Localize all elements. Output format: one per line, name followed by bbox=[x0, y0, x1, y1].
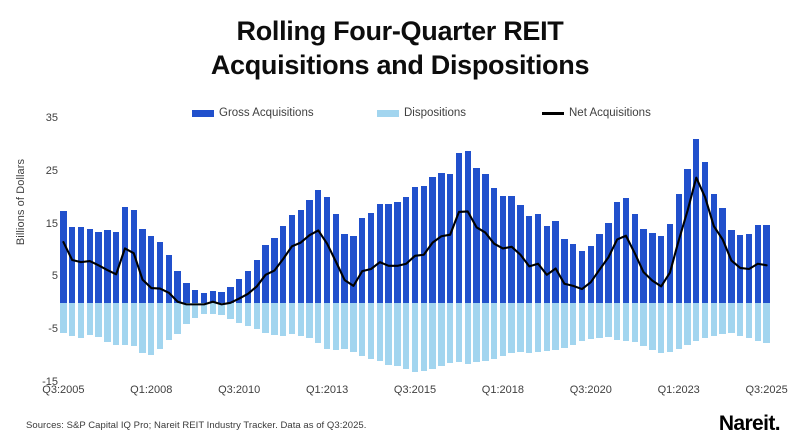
y-tick--5: -5 bbox=[18, 323, 58, 335]
legend-swatch-gross-acquisitions bbox=[192, 110, 214, 117]
chart-slide: Rolling Four-Quarter REIT Acquisitions a… bbox=[0, 0, 800, 445]
y-tick-5: 5 bbox=[18, 270, 58, 282]
x-tick-Q1-2018: Q1:2018 bbox=[482, 384, 524, 397]
x-tick-Q3-2010: Q3:2010 bbox=[218, 384, 260, 397]
legend-swatch-dispositions bbox=[377, 110, 399, 117]
plot-area bbox=[59, 118, 771, 382]
x-tick-Q3-2005: Q3:2005 bbox=[42, 384, 84, 397]
nareit-logo: Nareit. bbox=[719, 412, 780, 436]
net-acquisitions-line bbox=[63, 178, 766, 305]
title-line-2: Acquisitions and Dispositions bbox=[0, 48, 800, 82]
x-tick-Q1-2008: Q1:2008 bbox=[130, 384, 172, 397]
page-title: Rolling Four-Quarter REIT Acquisitions a… bbox=[0, 14, 800, 82]
x-tick-Q1-2023: Q1:2023 bbox=[658, 384, 700, 397]
legend-swatch-net-acquisitions bbox=[542, 112, 564, 115]
x-axis-ticks: Q3:2005Q1:2008Q3:2010Q1:2013Q3:2015Q1:20… bbox=[0, 384, 800, 400]
source-note: Sources: S&P Capital IQ Pro; Nareit REIT… bbox=[26, 420, 366, 431]
x-tick-Q3-2025: Q3:2025 bbox=[745, 384, 787, 397]
title-line-1: Rolling Four-Quarter REIT bbox=[0, 14, 800, 48]
x-tick-Q3-2015: Q3:2015 bbox=[394, 384, 436, 397]
y-tick-35: 35 bbox=[18, 112, 58, 124]
y-axis-title: Billions of Dollars bbox=[15, 137, 27, 267]
x-tick-Q3-2020: Q3:2020 bbox=[570, 384, 612, 397]
net-acquisitions-line-layer bbox=[59, 118, 771, 382]
x-tick-Q1-2013: Q1:2013 bbox=[306, 384, 348, 397]
